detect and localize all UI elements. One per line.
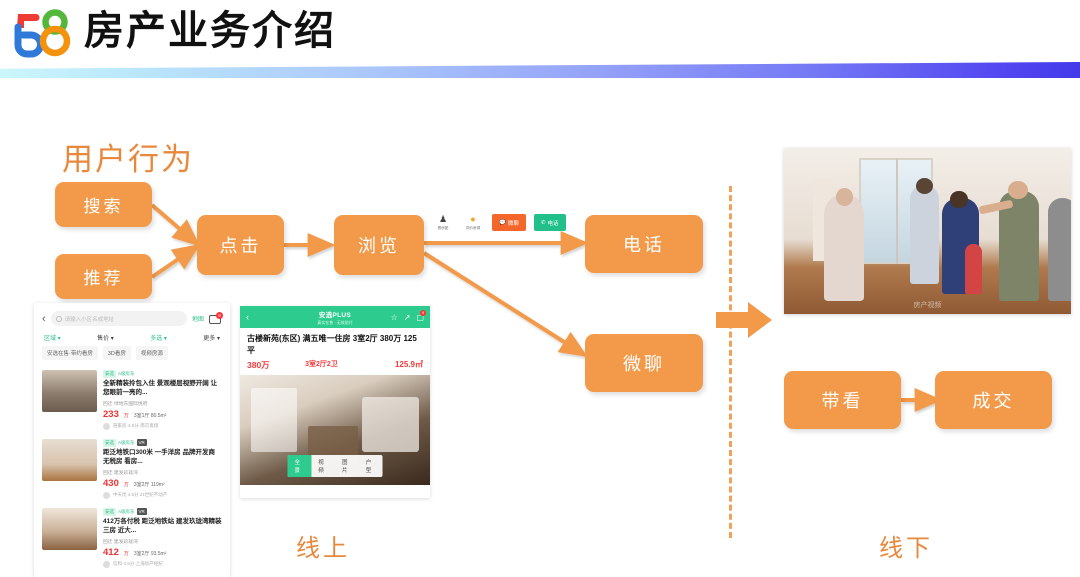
filter-row: 区域 ▾ 售价 ▾ 多选 ▾ 更多 ▾ <box>34 329 230 344</box>
listing-price-unit: 万 <box>124 412 129 419</box>
58-logo <box>8 6 74 58</box>
listing-meta: 3室1厅 80.5m² <box>134 412 167 419</box>
tab-panorama[interactable]: 全景 <box>288 455 312 477</box>
listing-title: 距泛地铁口300米 一手洋房 品牌开发商 无税房 看房... <box>103 448 222 467</box>
favorite-icon-label: 同价房源 <box>466 226 480 231</box>
listing-price: 233 <box>103 409 119 420</box>
quick-filter-chips: 安选在售·带约看房 3D看房 视频房源 <box>34 344 230 365</box>
agent-avatar <box>103 561 110 568</box>
message-icon[interactable]: 9 <box>209 313 222 325</box>
tag-grade: A级房东 <box>118 509 135 515</box>
tab-photo[interactable]: 图片 <box>335 455 359 477</box>
listing-info: 安选 A级房东 VR 距泛地铁口300米 一手洋房 品牌开发商 无税房 看房..… <box>103 439 222 499</box>
back-icon[interactable]: ‹ <box>42 313 46 325</box>
search-icon <box>56 316 62 322</box>
filter-area[interactable]: 区域 ▾ <box>44 333 61 342</box>
message-badge: 9 <box>420 310 426 316</box>
filter-price[interactable]: 售价 ▾ <box>97 333 114 342</box>
action-call-label: 电话 <box>547 219 558 227</box>
detail-header-icons: ☆ ↗ ▢ 9 <box>391 313 424 322</box>
listing-agent: 中天优 4.5分 21世纪不动产 <box>103 492 222 499</box>
user-behavior-label: 用户行为 <box>62 134 194 179</box>
listing-meta: 3室2厅 119m² <box>134 481 165 488</box>
tag-grade: A级房东 <box>118 440 135 446</box>
listing-subtitle: 回迁 建发玖珑湾 <box>103 469 222 476</box>
tag-grade: A级房东 <box>118 371 135 377</box>
listing-price-row: 412 万 3室2厅 93.5m² <box>103 547 222 558</box>
offline-channel-label: 线下 <box>879 528 933 563</box>
list-top-bar: ‹ 请输入小区名或地址 地图 9 <box>34 303 230 329</box>
listing-meta: 3室2厅 93.5m² <box>134 550 167 557</box>
detail-layout: 3室2厅2卫 <box>305 359 372 371</box>
media-tabs: 全景 视频 图片 户型 <box>288 455 383 477</box>
search-input[interactable]: 请输入小区名或地址 <box>51 311 187 326</box>
action-favorite-icon[interactable]: ● 同价房源 <box>462 215 484 231</box>
tag-vr: VR <box>137 439 147 446</box>
detail-room-photo: 全景 视频 图片 户型 <box>240 375 430 485</box>
agent-label: 信和·4.5分·上海房产经纪 <box>113 561 163 567</box>
flow-box-recommend-label: 推荐 <box>84 264 124 289</box>
listing-price-row: 430 万 3室2厅 119m² <box>103 478 222 489</box>
flow-box-chat[interactable]: 微聊 <box>585 334 703 392</box>
detail-area: 125.9㎡ <box>372 359 423 371</box>
detail-price: 380万 <box>247 359 305 371</box>
tab-floorplan[interactable]: 户型 <box>359 455 383 477</box>
compare-icon-label: 看房团 <box>438 226 449 231</box>
flow-box-search-label: 搜索 <box>84 192 124 217</box>
online-channel-label: 线上 <box>296 528 350 563</box>
offline-transition-arrow <box>716 300 772 340</box>
list-item[interactable]: 入选实拍房源 安选 A级房东 VR 距泛地铁口300米 一手洋房 品牌开发商 无… <box>34 434 230 503</box>
header-gradient-rule <box>0 62 1080 78</box>
agent-label: 链家房·4.5分·南京奥翔 <box>113 423 158 429</box>
photo-watermark: 房产视频 <box>914 300 942 310</box>
listing-thumbnail: 入选实拍房源 <box>42 439 97 481</box>
detail-action-bar: ♟ 看房团 ● 同价房源 💬 微聊 ✆ 电话 <box>432 214 566 231</box>
app-list-screenshot: ‹ 请输入小区名或地址 地图 9 区域 ▾ 售价 ▾ 多选 ▾ 更多 ▾ 安选在… <box>34 303 230 577</box>
listing-agent: 链家房·4.5分·南京奥翔 <box>103 423 222 430</box>
agent-avatar <box>103 492 110 499</box>
message-icon[interactable]: ▢ 9 <box>416 313 424 322</box>
action-call-button[interactable]: ✆ 电话 <box>534 214 566 231</box>
search-placeholder: 请输入小区名或地址 <box>65 315 115 323</box>
chip-3d[interactable]: 3D看房 <box>103 346 131 360</box>
listing-title: 412万各付税 距泛地铁站 建发玖珑湾精装三房 近大... <box>103 517 222 536</box>
flow-box-click-label: 点击 <box>220 232 262 258</box>
tag-anxuan: 安选 <box>103 439 116 447</box>
listing-price-unit: 万 <box>124 550 129 557</box>
app-detail-screenshot: ‹ 安选PLUS 真实在售 · 无效赔付 ☆ ↗ ▢ 9 古楼新苑(东区) 满五… <box>240 306 430 498</box>
action-chat-button[interactable]: 💬 微聊 <box>492 214 526 231</box>
phone-icon: ✆ <box>541 220 546 226</box>
filter-multi[interactable]: 多选 ▾ <box>150 333 167 342</box>
flow-box-click[interactable]: 点击 <box>197 215 284 275</box>
listing-agent: 信和·4.5分·上海房产经纪 <box>103 561 222 568</box>
page-title: 房产业务介绍 <box>84 4 336 58</box>
agent-label: 中天优 4.5分 21世纪不动产 <box>113 492 167 498</box>
flow-box-deal[interactable]: 成交 <box>935 371 1052 429</box>
listing-tags: 安选 A级房东 VR <box>103 508 222 516</box>
tab-video[interactable]: 视频 <box>311 455 335 477</box>
chat-bubble-icon: 💬 <box>499 220 506 226</box>
listing-info: 安选 A级房东 VR 412万各付税 距泛地铁站 建发玖珑湾精装三房 近大...… <box>103 508 222 568</box>
tag-anxuan: 安选 <box>103 508 116 516</box>
tag-vr: VR <box>137 508 147 515</box>
listing-tags: 安选 A级房东 VR <box>103 439 222 447</box>
flow-box-phone-label: 电话 <box>623 231 665 257</box>
flow-box-browse-label: 浏览 <box>358 232 400 258</box>
list-item[interactable]: 入选实拍房源 安选 A级房东 VR 412万各付税 距泛地铁站 建发玖珑湾精装三… <box>34 503 230 572</box>
flow-box-phone[interactable]: 电话 <box>585 215 703 273</box>
listing-thumbnail: 入选实拍房源 <box>42 508 97 550</box>
apartment-showing-photo: 房产视频 <box>784 148 1071 314</box>
chip-video[interactable]: 视频房源 <box>136 346 168 360</box>
flow-box-recommend[interactable]: 推荐 <box>55 254 152 299</box>
listing-price: 412 <box>103 547 119 558</box>
slide-header: 房产业务介绍 <box>0 0 1080 62</box>
listing-info: 安选 A级房东 全新精装拎包入住 景观楼层视野开阔 让您眼前一亮的... 回迁 … <box>103 370 222 430</box>
flow-box-showing[interactable]: 带看 <box>784 371 901 429</box>
flow-box-browse[interactable]: 浏览 <box>334 215 424 275</box>
detail-title: 古楼新苑(东区) 满五唯一住房 3室2厅 380万 125平 <box>240 328 430 356</box>
share-icon[interactable]: ↗ <box>404 313 411 322</box>
flow-box-deal-label: 成交 <box>973 387 1015 413</box>
listing-price-row: 233 万 3室1厅 80.5m² <box>103 409 222 420</box>
flow-box-showing-label: 带看 <box>822 387 864 413</box>
listing-price: 430 <box>103 478 119 489</box>
map-button[interactable]: 地图 <box>192 314 204 323</box>
listing-subtitle: 回迁 绿地东国际悦府 <box>103 400 222 407</box>
listing-subtitle: 回迁 建发玖珑湾 <box>103 538 222 545</box>
listing-title: 全新精装拎包入住 景观楼层视野开阔 让您眼前一亮的... <box>103 379 222 398</box>
detail-price-row: 380万 3室2厅2卫 125.9㎡ <box>240 356 430 375</box>
flow-box-search[interactable]: 搜索 <box>55 182 152 227</box>
detail-header: ‹ 安选PLUS 真实在售 · 无效赔付 ☆ ↗ ▢ 9 <box>240 306 430 328</box>
message-badge: 9 <box>216 312 223 319</box>
compare-icon-glyph: ♟ <box>439 215 447 224</box>
list-item[interactable]: 入选实拍房源 安选 A级房东 全新精装拎包入住 景观楼层视野开阔 让您眼前一亮的… <box>34 365 230 434</box>
online-offline-divider <box>729 186 732 538</box>
slide-canvas: 房产业务介绍 用户行为 搜索 <box>0 0 1080 577</box>
favorite-icon-glyph: ● <box>470 215 475 224</box>
agent-avatar <box>103 423 110 430</box>
filter-more[interactable]: 更多 ▾ <box>203 333 220 342</box>
flow-box-chat-label: 微聊 <box>623 350 665 376</box>
star-icon[interactable]: ☆ <box>391 313 398 322</box>
listing-tags: 安选 A级房东 <box>103 370 222 378</box>
tag-anxuan: 安选 <box>103 370 116 378</box>
listing-price-unit: 万 <box>124 481 129 488</box>
listing-thumbnail: 入选实拍房源 <box>42 370 97 412</box>
action-compare-icon[interactable]: ♟ 看房团 <box>432 215 454 231</box>
chip-anxuan[interactable]: 安选在售·带约看房 <box>42 346 98 360</box>
action-chat-label: 微聊 <box>508 219 519 227</box>
